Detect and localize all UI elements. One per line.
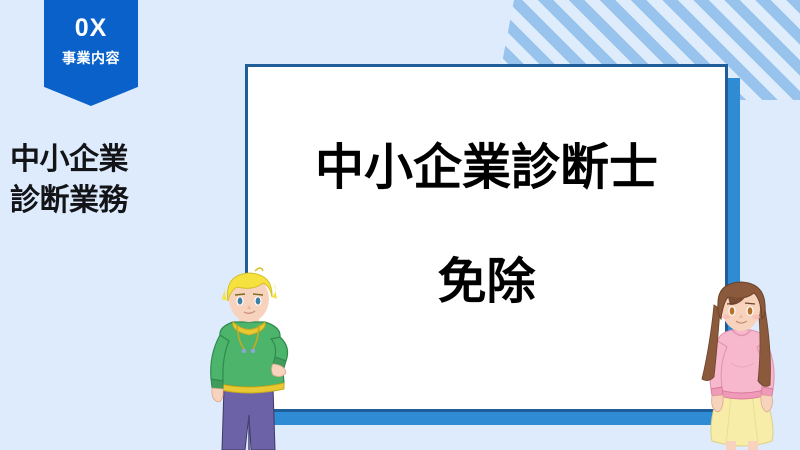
- side-heading: 中小企業 診断業務: [10, 139, 180, 222]
- boy-hoodie: [216, 322, 284, 393]
- ribbon-banner: 0X 事業内容: [44, 0, 138, 106]
- boy-legs: [222, 387, 275, 450]
- page-title: 中小企業診断士: [315, 143, 658, 192]
- ribbon-subtitle-label: 事業内容: [62, 52, 120, 66]
- ribbon-code-label: 0X: [75, 16, 108, 41]
- main-content-card: 中小企業診断士 免除: [245, 64, 728, 412]
- page-subtitle: 免除: [437, 257, 535, 306]
- slide-canvas: 0X 事業内容 中小企業 診断業務 中小企業診断士 免除: [0, 0, 800, 450]
- character-brown-hair-girl: [686, 275, 796, 450]
- boy-head: [222, 268, 277, 322]
- character-blonde-boy: [189, 265, 307, 450]
- girl-head: [718, 282, 765, 331]
- side-heading-line-2: 診断業務: [10, 180, 180, 221]
- side-heading-line-1: 中小企業: [10, 139, 180, 180]
